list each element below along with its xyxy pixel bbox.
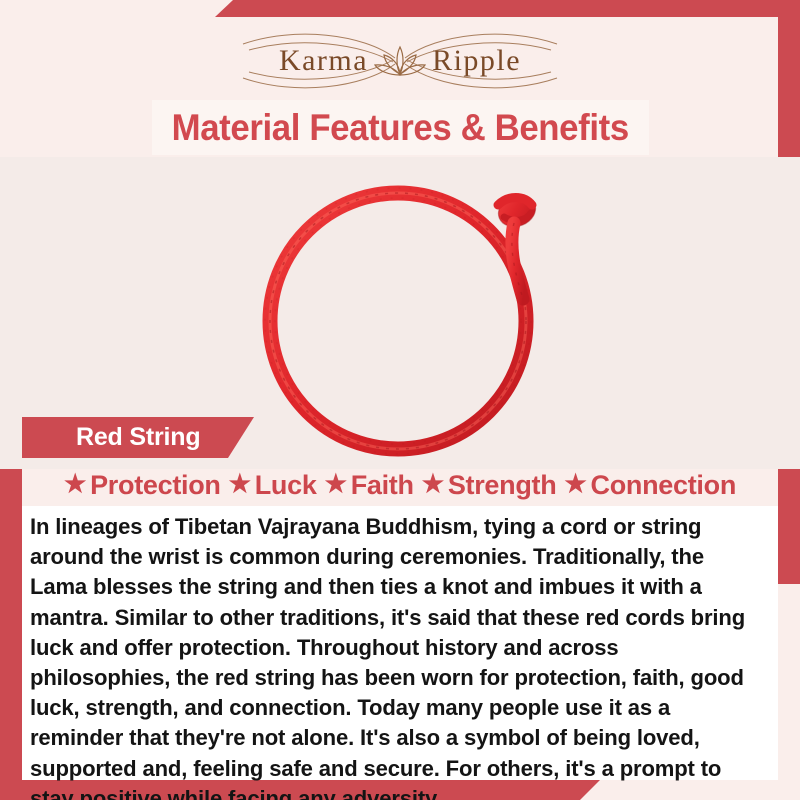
page-title: Material Features & Benefits	[172, 107, 629, 149]
star-icon: ★	[564, 472, 586, 497]
feature-tag-faith: ★ Faith	[325, 470, 414, 501]
brand-name-left: Karma	[279, 44, 368, 78]
feature-tag-connection: ★ Connection	[564, 470, 736, 501]
red-braided-string-bracelet-icon	[236, 171, 576, 461]
title-band: Material Features & Benefits	[152, 100, 649, 155]
star-icon: ★	[325, 472, 347, 497]
feature-tag-strength: ★ Strength	[422, 470, 557, 501]
material-name-label: Red String	[22, 423, 200, 452]
description-text: In lineages of Tibetan Vajrayana Buddhis…	[30, 512, 759, 800]
star-icon: ★	[64, 472, 86, 497]
feature-tag-label: Strength	[448, 470, 557, 501]
feature-tag-protection: ★ Protection	[64, 470, 221, 501]
feature-tag-label: Connection	[591, 470, 737, 501]
brand-name-right: Ripple	[432, 44, 521, 78]
feature-tag-label: Faith	[351, 470, 414, 501]
infographic-page: Karma Ripple Material Features & Benefit…	[0, 0, 800, 800]
feature-tag-luck: ★ Luck	[229, 470, 317, 501]
brand-logo: Karma Ripple	[0, 28, 800, 94]
feature-tag-label: Luck	[255, 470, 317, 501]
decor-top-red-band	[215, 0, 800, 17]
description-panel: In lineages of Tibetan Vajrayana Buddhis…	[22, 506, 778, 780]
material-name-ribbon: Red String	[22, 417, 254, 458]
star-icon: ★	[229, 472, 251, 497]
feature-tag-label: Protection	[90, 470, 221, 501]
feature-tag-list: ★ Protection ★ Luck ★ Faith ★ Strength ★…	[22, 464, 778, 506]
star-icon: ★	[422, 472, 444, 497]
